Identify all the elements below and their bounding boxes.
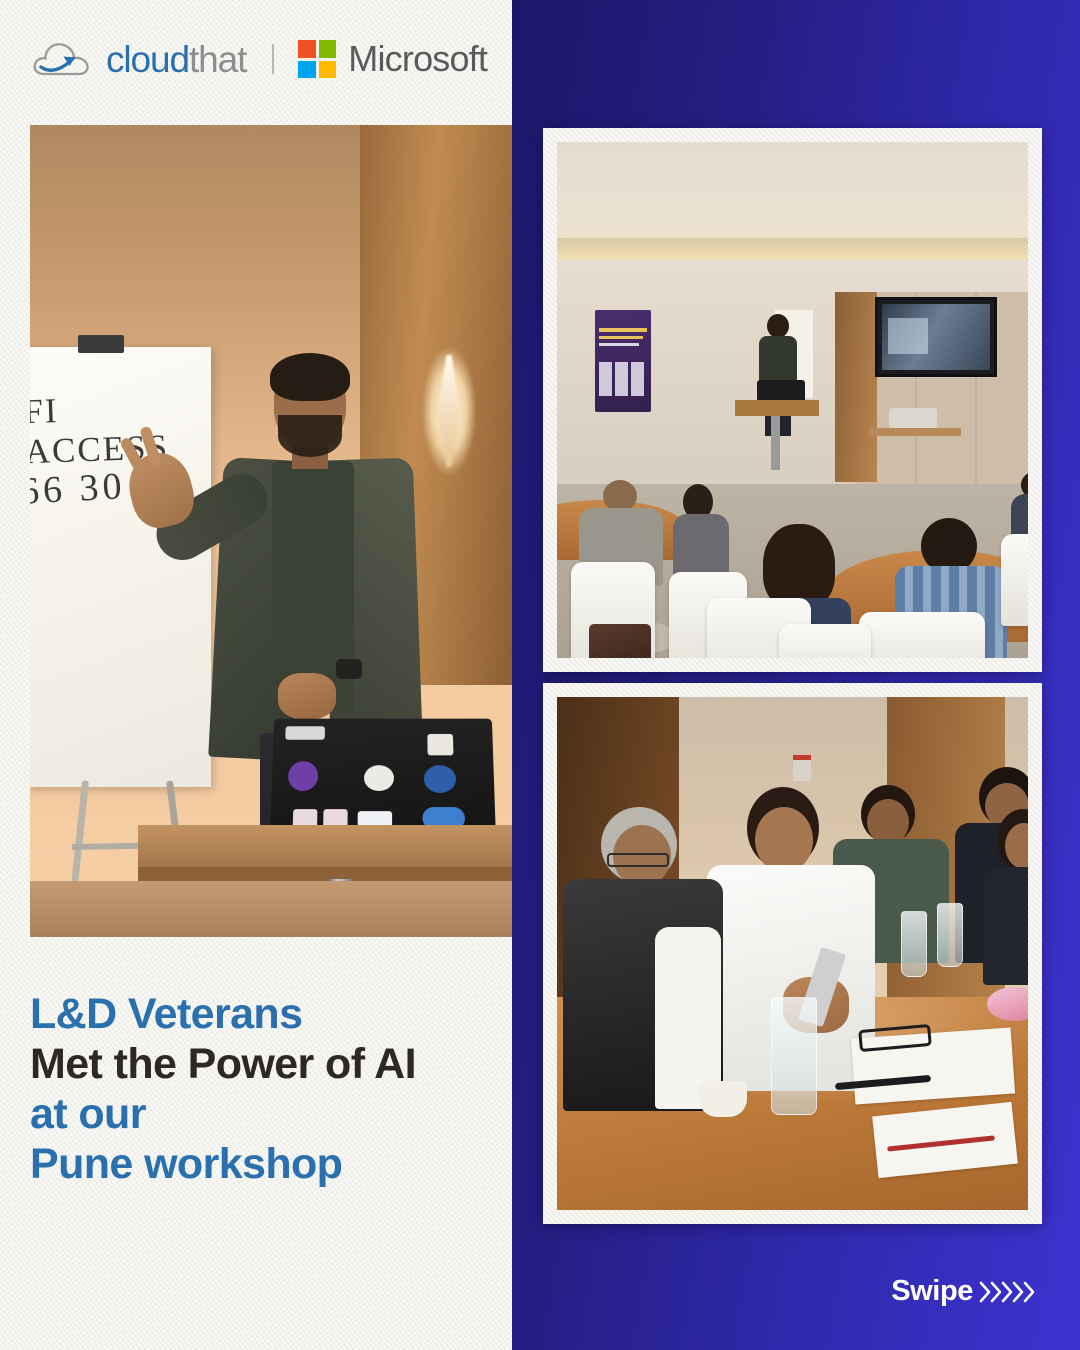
photo2-chair-5 [1001, 534, 1028, 626]
photo3-attendee-front-vest [563, 807, 723, 1107]
microsoft-logo: Microsoft [298, 40, 487, 78]
photo1-hair [270, 353, 350, 401]
banner-line-3 [599, 343, 639, 346]
attendee-b3-body [983, 867, 1028, 985]
laptop-sticker-5 [424, 765, 456, 793]
photo2-handbag [589, 624, 651, 658]
flipchart-text-line2: 66 30 [30, 464, 127, 513]
logo-bar: cloudthat Microsoft [32, 36, 487, 82]
banner-line-2 [599, 336, 643, 339]
laptop-sticker-2 [288, 761, 319, 791]
photo2-presenter-head [767, 314, 789, 338]
laptop-sticker-3 [364, 765, 394, 791]
photo2-projector [889, 408, 937, 428]
logo-divider [272, 44, 274, 74]
chevron-right-icon [1023, 1281, 1036, 1303]
photo1-clasped-hands [278, 673, 336, 719]
photo1-wall-lamp [422, 347, 476, 475]
microsoft-wordmark: Microsoft [348, 41, 487, 77]
photo2-chair-6 [779, 624, 871, 658]
photo1-beard [278, 415, 342, 457]
conference-room-audience-photo [557, 142, 1028, 658]
photo2-wood-column-left [835, 292, 877, 482]
laptop-sticker-1 [285, 726, 325, 740]
ms-square-blue [298, 61, 316, 79]
photo1-wristwatch [336, 659, 362, 679]
cloudthat-word-cloud: cloud [106, 39, 189, 80]
photo2-chair-4 [859, 612, 985, 658]
swipe-chevrons [981, 1281, 1036, 1303]
photo2-slide-content [882, 304, 990, 370]
photo1-table-edge [138, 867, 512, 881]
flipchart-text-line1: FI ACCESS [30, 386, 212, 472]
ms-square-red [298, 40, 316, 58]
cloudthat-wordmark: cloudthat [106, 41, 246, 78]
headline-line-3: at our [30, 1090, 416, 1140]
attendees-photo-frame [543, 683, 1042, 1224]
photo2-standee-banner [595, 310, 651, 412]
banner-line-1 [599, 328, 647, 332]
ms-square-yellow [319, 61, 337, 79]
photo1-table [138, 825, 512, 867]
headline: L&D Veterans Met the Power of AI at our … [30, 990, 416, 1190]
microsoft-squares-icon [298, 40, 336, 78]
attendee-f2-face [755, 807, 813, 873]
swipe-label: Swipe [891, 1275, 973, 1308]
photo2-projector-stand [869, 428, 961, 436]
photo3-water-bottle [771, 997, 817, 1115]
swipe-cta[interactable]: Swipe [891, 1275, 1036, 1308]
photo2-cove-light [557, 238, 1028, 260]
attendees-round-table-photo [557, 697, 1028, 1210]
headline-line-4: Pune workshop [30, 1140, 416, 1190]
attendee-2-body [673, 514, 729, 578]
headline-line-2: Met the Power of AI [30, 1040, 416, 1090]
laptop-sticker-4 [427, 734, 453, 755]
photo3-attendee-back-3 [983, 809, 1028, 979]
headline-line-1: L&D Veterans [30, 990, 416, 1040]
photo3-glass-1 [901, 911, 927, 977]
photo1-floor [30, 881, 512, 937]
ms-square-green [319, 40, 337, 58]
photo2-projection-screen [875, 297, 997, 377]
banner-logo-strip [599, 362, 647, 396]
attendee-f1-glasses [607, 853, 669, 867]
photo2-presenter-table [735, 400, 819, 416]
poster-canvas: cloudthat Microsoft FI ACCESS 66 30 [0, 0, 1080, 1350]
conference-room-photo-frame [543, 128, 1042, 672]
photo3-wall-sign [793, 755, 811, 781]
cloud-arrow-icon [32, 36, 94, 82]
cloudthat-word-that: that [189, 39, 246, 80]
cloudthat-logo: cloudthat [32, 36, 246, 82]
speaker-flipchart-photo: FI ACCESS 66 30 [30, 125, 512, 937]
photo1-flipchart-clip [78, 335, 124, 353]
photo2-presenter-table-leg [771, 416, 780, 470]
photo1-flipchart: FI ACCESS 66 30 [30, 347, 211, 787]
photo3-coffee-cup [699, 1081, 747, 1117]
photo3-glass-2 [937, 903, 963, 967]
